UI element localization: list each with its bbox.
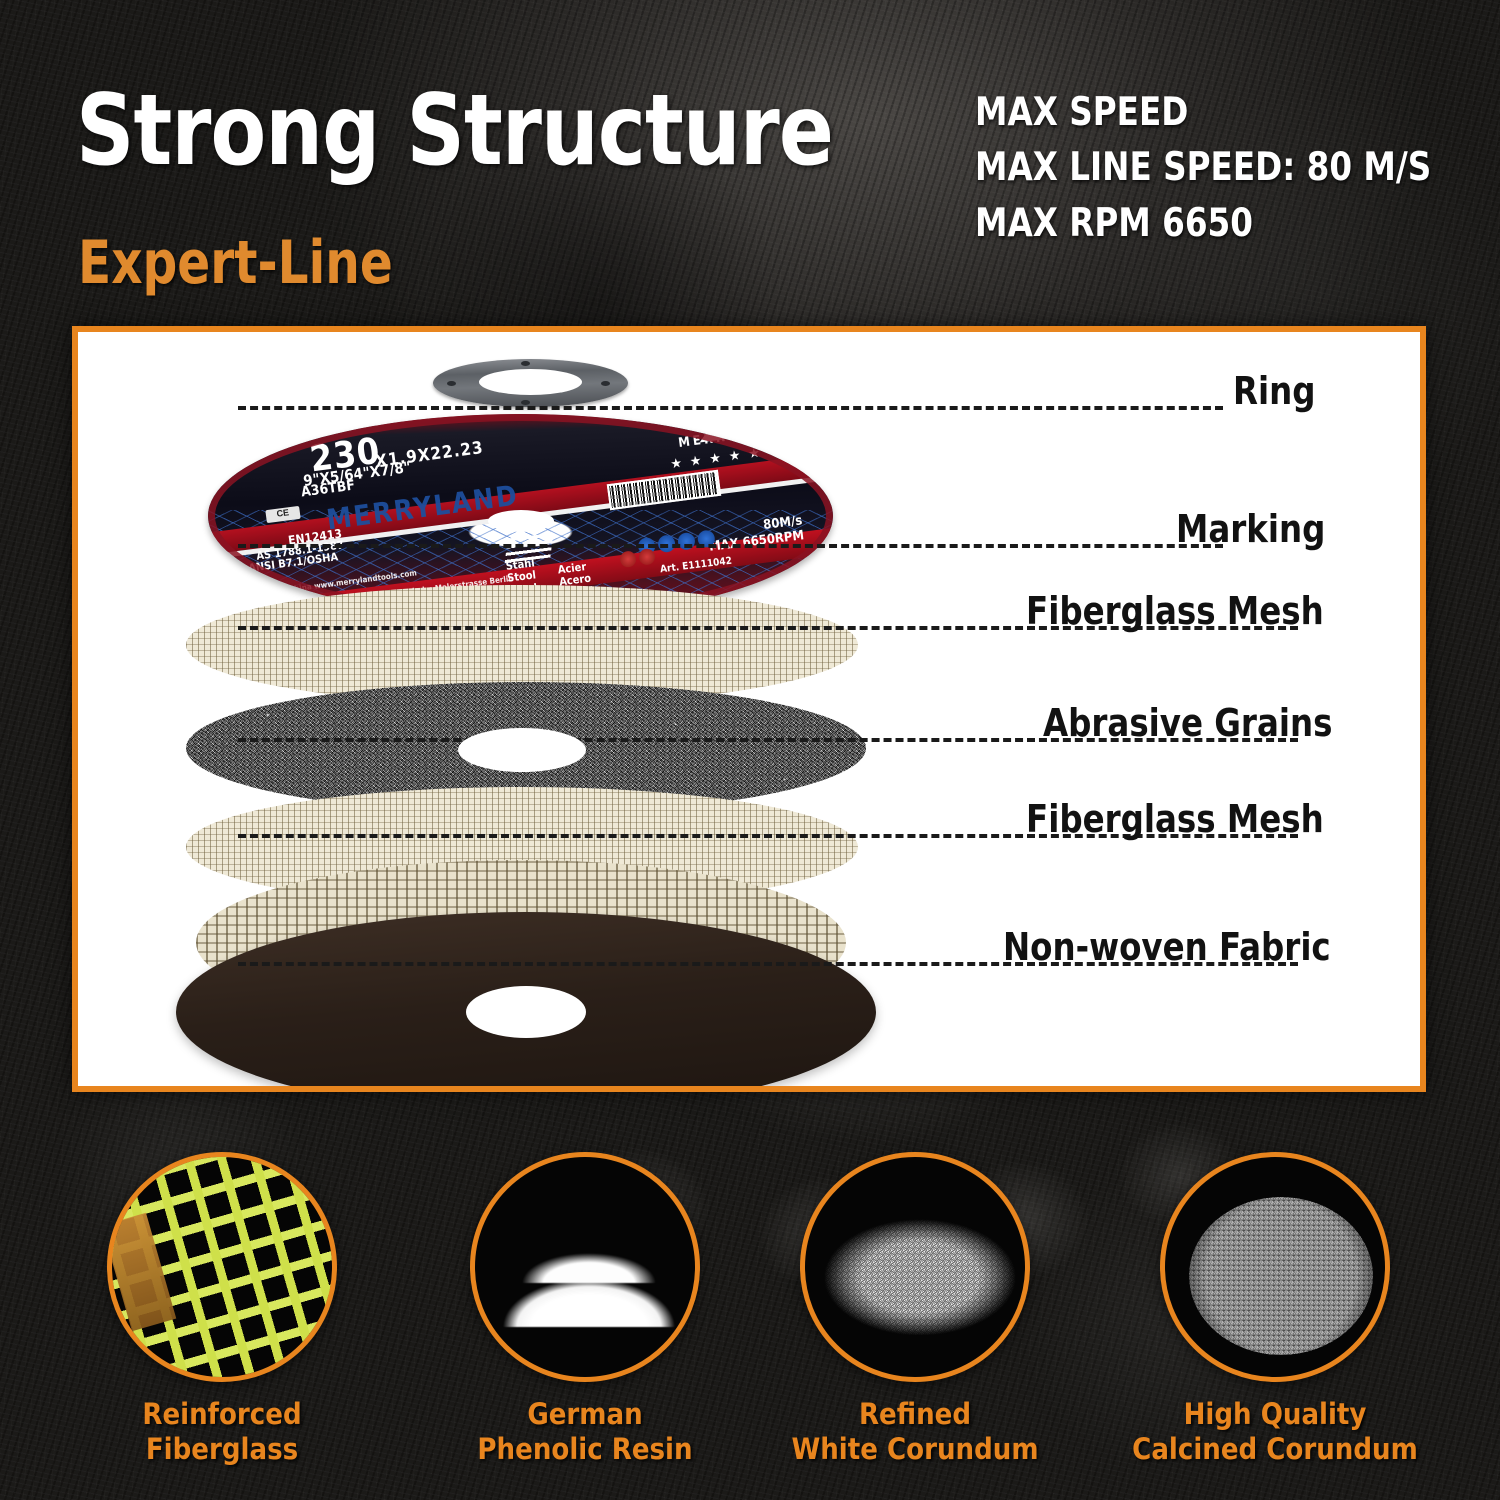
spec-max-line-speed: MAX LINE SPEED: 80 M/S <box>975 140 1431 195</box>
caption-line-2: White Corundum <box>791 1432 1038 1467</box>
powder-pile <box>489 1243 689 1327</box>
ring-hole <box>447 381 456 386</box>
ring-inner-hole <box>479 369 582 395</box>
feature-high-quality-calcined-corundum: High Quality Calcined Corundum <box>1160 1152 1390 1382</box>
feature-caption-german-phenolic-resin: German Phenolic Resin <box>477 1397 692 1468</box>
caption-line-2: Calcined Corundum <box>1132 1432 1418 1467</box>
granule-pile <box>1189 1197 1373 1355</box>
ring-hole <box>521 400 530 405</box>
layer-ring <box>433 359 628 407</box>
arbor-hole <box>488 510 554 532</box>
spec-max-rpm: MAX RPM 6650 <box>975 196 1431 251</box>
feature-refined-white-corundum: Refined White Corundum <box>800 1152 1030 1382</box>
callout-label-fiberglass-mesh-upper: Fiberglass Mesh <box>1026 592 1324 630</box>
leader-line <box>238 406 1223 410</box>
arbor-hole <box>458 728 586 772</box>
feature-caption-reinforced-fiberglass: Reinforced Fiberglass <box>142 1397 301 1468</box>
feature-german-phenolic-resin: German Phenolic Resin <box>470 1152 700 1382</box>
callout-label-abrasive-grains: Abrasive Grains <box>1043 704 1332 742</box>
white-granule-pile-icon <box>800 1152 1030 1382</box>
feature-reinforced-fiberglass: Reinforced Fiberglass <box>107 1152 337 1382</box>
callout-label-ring: Ring <box>1233 372 1316 410</box>
page-subtitle: Expert-Line <box>78 233 393 293</box>
caption-line-1: High Quality <box>1132 1397 1418 1432</box>
feature-caption-high-quality-calcined-corundum: High Quality Calcined Corundum <box>1132 1397 1418 1468</box>
spec-max-speed: MAX SPEED <box>975 85 1431 140</box>
fiberglass-mesh-swatch-icon <box>107 1152 337 1382</box>
gray-granule-pile-icon <box>1160 1152 1390 1382</box>
structure-diagram-panel: MERRYLAND ★★★★★ 230 X1.9X22.23 9"X5/64"X… <box>72 326 1426 1092</box>
leader-line <box>238 544 1223 548</box>
page-title: Strong Structure <box>76 82 833 180</box>
arbor-hole <box>466 986 586 1038</box>
feature-caption-refined-white-corundum: Refined White Corundum <box>791 1397 1038 1468</box>
caption-line-1: Reinforced <box>142 1397 301 1432</box>
callout-label-non-woven-fabric: Non-woven Fabric <box>1003 928 1331 966</box>
spec-list: MAX SPEED MAX LINE SPEED: 80 M/S MAX RPM… <box>975 85 1431 251</box>
ring-hole <box>521 361 530 366</box>
ring-hole <box>601 381 610 386</box>
granule-pile <box>821 1215 1019 1335</box>
callout-label-marking: Marking <box>1176 510 1325 548</box>
caption-line-1: German <box>477 1397 692 1432</box>
caption-line-1: Refined <box>791 1397 1038 1432</box>
caption-line-2: Fiberglass <box>142 1432 301 1467</box>
callout-label-fiberglass-mesh-lower: Fiberglass Mesh <box>1026 800 1324 838</box>
caption-line-2: Phenolic Resin <box>477 1432 692 1467</box>
white-powder-pile-icon <box>470 1152 700 1382</box>
